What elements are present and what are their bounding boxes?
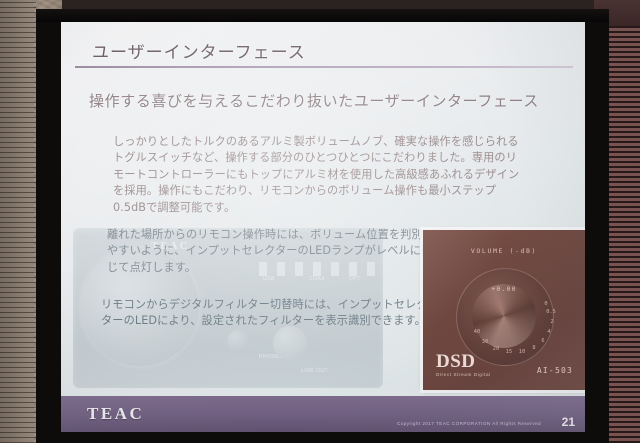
vertical-blinds-left [0,0,36,443]
title-divider [75,66,573,68]
dial-tick-9: 30 [482,339,488,345]
body-paragraph-1: しっかりとしたトルクのあるアルミ製ボリュームノブ、確実な操作を感じられるトグルス… [113,134,525,216]
dial-tick-6: 10 [519,349,525,355]
slide-footer: TEAC Copyright 2017 TEAC CORPORATION All… [61,396,585,432]
device-label-coax: COAX [309,276,325,282]
product-photo-ai503: VOLUME (-dB) +0.00 0 0.5 2 4 6 8 10 15 2… [423,230,585,390]
page-number: 21 [562,415,575,429]
dsd-logo-text: DSD [436,352,491,371]
device-label-usb: USB [263,276,275,282]
body-paragraph-3: リモコンからデジタルフィルター切替時には、インプットセレクターのLEDにより、設… [101,297,431,330]
presentation-slide: TEAC USB COAX OPT PHONES LINE OUT ユーザーイン… [61,22,585,432]
device-label-opt: OPT [349,276,361,282]
dial-tick-2: 2 [550,319,553,325]
dial-tick-0: 0 [544,301,547,307]
dial-tick-4: 6 [541,338,544,344]
copyright-text: Copyright 2017 TEAC CORPORATION All Righ… [397,421,541,426]
dsd-logo-subtitle: Direct Stream Digital [436,372,491,377]
dial-tick-3: 4 [547,329,550,335]
device-label-lineout: LINE OUT [301,368,328,374]
dial-tick-5: 8 [532,345,535,351]
projection-screen-top-bar [36,9,609,22]
slide-subtitle: 操作する喜びを与えるこだわり抜いたユーザーインターフェース [89,90,539,111]
teac-logo: TEAC [87,404,144,424]
dial-tick-1: 0.5 [546,309,556,315]
volume-value: +0.00 [423,285,585,293]
page-title: ユーザーインターフェース [92,38,306,63]
product-model-label: AI-503 [537,366,573,375]
dial-tick-8: 20 [493,346,499,352]
body-paragraph-2: 離れた場所からのリモコン操作時には、ボリューム位置を判別しやすいように、インプッ… [107,227,437,276]
dsd-logo: DSD Direct Stream Digital [436,352,491,377]
volume-label: VOLUME (-dB) [423,247,585,255]
dial-tick-7: 15 [506,349,512,355]
device-knob-left [227,330,249,352]
dial-tick-10: 40 [474,329,480,335]
device-knob-right [273,326,307,360]
